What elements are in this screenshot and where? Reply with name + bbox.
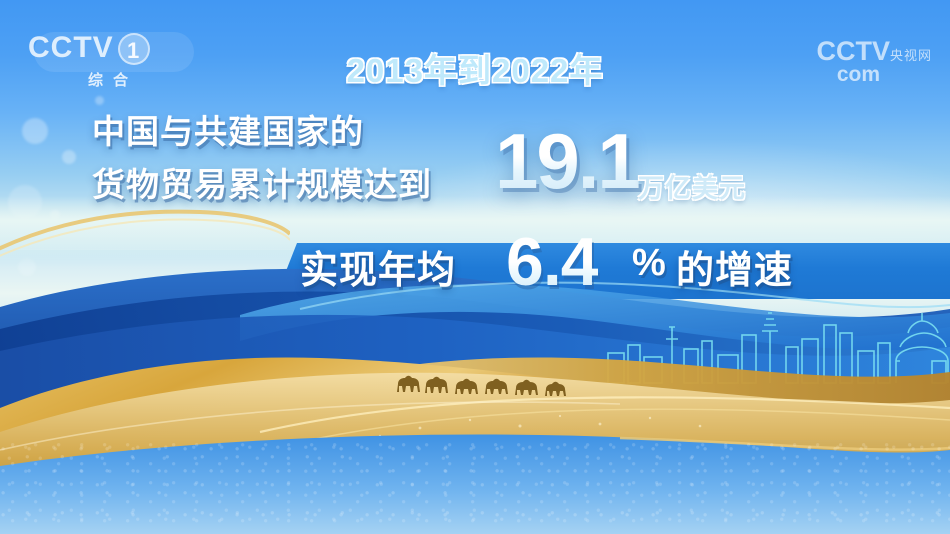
camel-caravan-icon [395,368,585,402]
bokeh-particle [62,150,76,164]
growth-rate-percent: % [632,238,666,288]
headline-line-1: 中国与共建国家的 [92,105,364,153]
bokeh-particle [95,96,104,105]
growth-rate-suffix: 的增速 [676,243,793,299]
bokeh-particle [22,118,48,144]
trade-volume-value: 19.1 [495,122,639,200]
headline-line-2: 货物贸易累计规模达到 [92,158,432,206]
growth-rate-prefix: 实现年均 [300,243,456,299]
broadcast-frame: CCTV1 综合 CCTV央视网 com 2013年到2022年 中国与共建国家… [0,0,950,534]
year-range-title: 2013年到2022年 [0,44,950,92]
trade-volume-unit: 万亿美元 [638,168,746,205]
lower-third: "一带一路"白皮书发布 介绍共建成果 与共建国家进出口总额年均增长6.4% 今晚… [0,430,950,534]
growth-rate-value: 6.4 [506,225,598,299]
